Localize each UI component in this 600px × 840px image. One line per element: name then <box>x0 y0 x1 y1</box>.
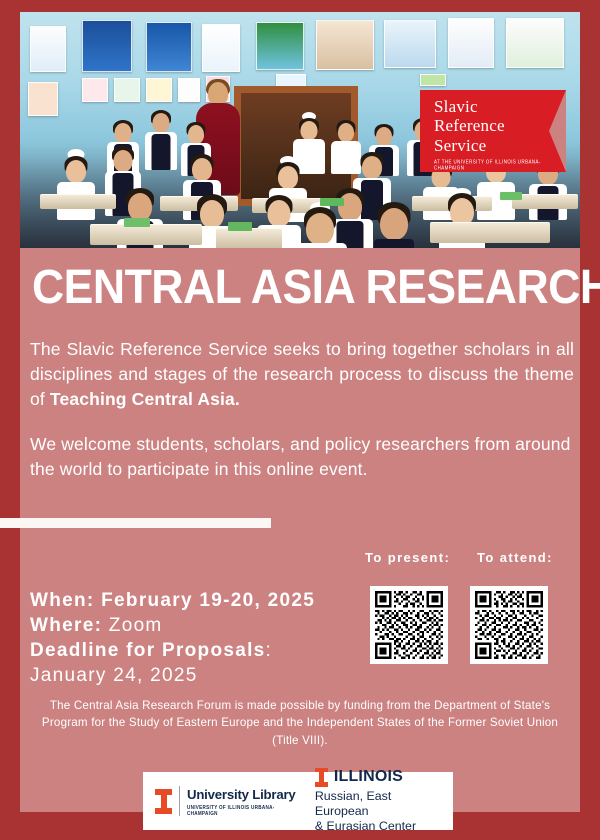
qr-present-label: To present: <box>365 550 461 565</box>
srs-subtitle: AT THE UNIVERSITY OF ILLINOIS URBANA-CHA… <box>434 159 566 171</box>
wall-poster <box>256 22 304 70</box>
university-library-text: University Library UNIVERSITY OF ILLINOI… <box>187 788 297 814</box>
wall-poster <box>28 82 58 116</box>
illinois-wordmark: ILLINOIS <box>315 768 441 787</box>
welcome-paragraph: We welcome students, scholars, and polic… <box>30 432 574 482</box>
event-details: When: February 19-20, 2025 Where: Zoom D… <box>30 588 315 688</box>
wall-poster <box>448 18 494 68</box>
poster: Slavic Reference Service AT THE UNIVERSI… <box>0 0 600 840</box>
classroom-photo: Slavic Reference Service AT THE UNIVERSI… <box>20 12 580 248</box>
event-when-label: When: <box>30 590 95 611</box>
wall-poster <box>506 18 564 68</box>
classroom-desk <box>90 224 202 245</box>
sponsor-logo-bar: University Library UNIVERSITY OF ILLINOI… <box>143 772 453 830</box>
event-when-row: When: February 19-20, 2025 <box>30 588 315 613</box>
illinois-word: ILLINOIS <box>334 768 403 786</box>
notebook <box>228 222 252 231</box>
wall-poster <box>114 78 140 102</box>
wall-poster <box>316 20 374 70</box>
intro-paragraph: The Slavic Reference Service seeks to br… <box>30 337 574 413</box>
wall-poster <box>384 20 436 68</box>
wall-poster <box>146 22 192 72</box>
srs-line-1: Slavic <box>434 97 566 116</box>
event-deadline-value: January 24, 2025 <box>30 663 315 688</box>
wall-poster <box>420 74 446 86</box>
university-library-logo: University Library UNIVERSITY OF ILLINOI… <box>155 786 297 816</box>
university-library-subtitle: UNIVERSITY OF ILLINOIS URBANA-CHAMPAIGN <box>187 804 297 816</box>
funding-acknowledgement: The Central Asia Research Forum is made … <box>34 697 566 749</box>
event-deadline-colon: : <box>266 640 273 661</box>
wall-poster <box>202 24 240 72</box>
classroom-desk <box>216 228 282 248</box>
university-library-name: University Library <box>187 788 297 802</box>
logo-divider <box>179 786 180 816</box>
wall-poster <box>146 78 172 102</box>
reeec-logo: ILLINOIS Russian, East European & Eurasi… <box>315 768 441 834</box>
pupil-figure <box>292 204 348 248</box>
block-i-icon <box>155 789 172 814</box>
pupil-figure <box>56 152 96 220</box>
reeec-name-line-1: Russian, East European <box>315 789 441 819</box>
qr-codes-row <box>370 586 548 664</box>
qr-code-present[interactable] <box>370 586 448 664</box>
classroom-desk <box>430 222 550 243</box>
event-deadline-label: Deadline for Proposals <box>30 640 266 661</box>
event-where-label: Where: <box>30 615 102 636</box>
section-divider <box>0 518 271 528</box>
theme-emphasis: Teaching Central Asia. <box>50 389 240 409</box>
pupil-figure <box>144 110 178 170</box>
classroom-desk <box>40 194 116 209</box>
notebook <box>320 198 344 206</box>
block-i-icon <box>315 768 328 787</box>
wall-poster <box>30 26 66 72</box>
qr-code-attend[interactable] <box>470 586 548 664</box>
event-where-value: Zoom <box>109 615 163 636</box>
event-where-row: Where: Zoom <box>30 613 315 638</box>
srs-wordmark: Slavic Reference Service <box>434 97 566 155</box>
qr-attend-label: To attend: <box>477 550 573 565</box>
event-when-value: February 19-20, 2025 <box>101 590 315 611</box>
wall-poster <box>82 78 108 102</box>
event-deadline-row: Deadline for Proposals: <box>30 638 315 663</box>
wall-poster <box>82 20 132 72</box>
srs-line-2: Reference <box>434 116 566 135</box>
notebook <box>500 192 522 200</box>
reeec-name-line-2: & Eurasian Center <box>315 819 441 834</box>
slavic-reference-service-logo: Slavic Reference Service AT THE UNIVERSI… <box>420 90 566 172</box>
srs-line-3: Service <box>434 136 566 155</box>
pupil-figure <box>366 202 422 248</box>
reeec-name: Russian, East European & Eurasian Center <box>315 789 441 834</box>
poster-title: CENTRAL ASIA RESEARCH FORUM <box>32 262 575 311</box>
qr-labels-row: To present: To attend: <box>365 550 573 565</box>
notebook <box>124 218 150 227</box>
